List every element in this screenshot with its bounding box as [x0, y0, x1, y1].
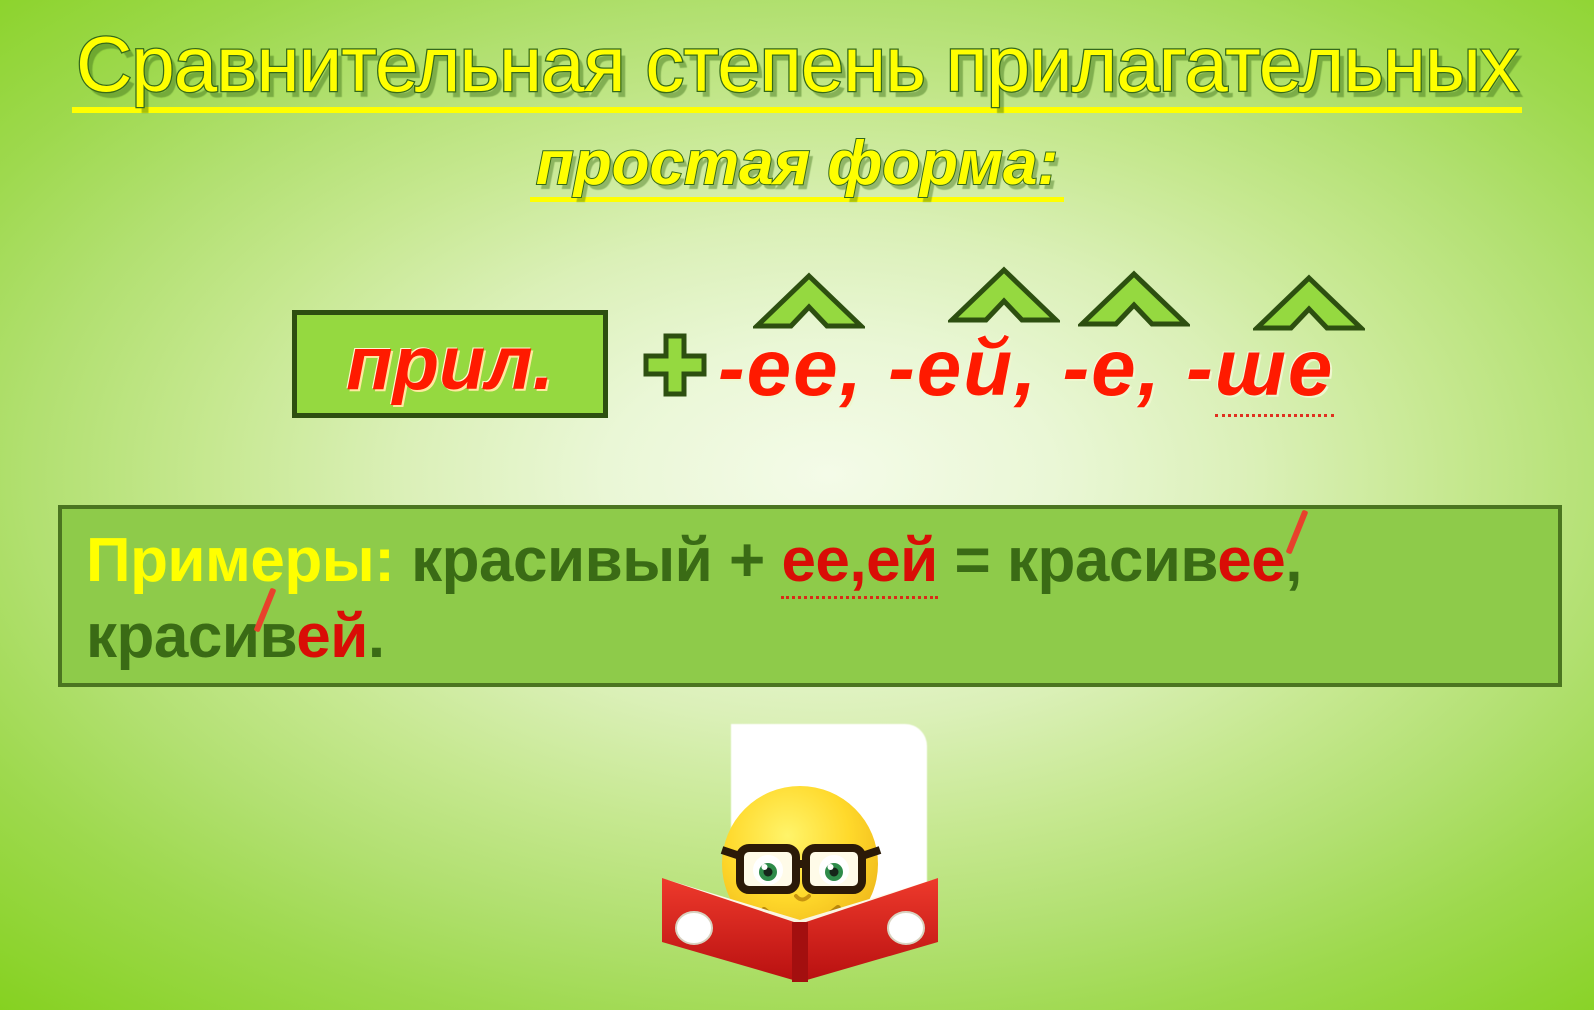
example-result-suffix: ее — [1217, 526, 1285, 595]
example2-result-suffix: ей — [296, 602, 368, 671]
examples-label: Примеры: — [86, 526, 394, 595]
suffix-caret-icon — [948, 266, 1060, 326]
example2-result-period: . — [368, 602, 385, 671]
example-result-stem: красив — [1007, 526, 1217, 595]
example-base-word: красивый — [411, 526, 712, 595]
title-block: Сравнительная степень прилагательных про… — [0, 24, 1594, 202]
plus-icon — [643, 333, 707, 397]
suffix-list-text: -ее, -ей, -е, - — [718, 323, 1215, 412]
example-plus-sign: + — [729, 526, 765, 595]
formula-row: прил. -ее, -ей, -е, -ше — [0, 300, 1594, 440]
slide-background: Сравнительная степень прилагательных про… — [0, 0, 1594, 1010]
page-subtitle: простая форма: — [530, 131, 1064, 202]
adjective-box: прил. — [292, 310, 608, 418]
page-title: Сравнительная степень прилагательных — [72, 24, 1522, 113]
example-suffix-pair: ее,ей — [781, 526, 937, 599]
suffix-list: -ее, -ей, -е, -ше — [718, 328, 1334, 408]
smiley-reading-book-icon — [640, 752, 960, 982]
examples-box: Примеры: красивый + ее,ей = красивее, кр… — [58, 505, 1562, 687]
examples-line-2: красивей. — [86, 599, 1534, 675]
suffix-she: ше — [1215, 323, 1335, 417]
example-equals-sign: = — [954, 526, 990, 595]
suffix-caret-icon — [1078, 270, 1190, 330]
adjective-label: прил. — [297, 326, 603, 402]
examples-line-1: Примеры: красивый + ее,ей = красивее, — [86, 523, 1534, 599]
